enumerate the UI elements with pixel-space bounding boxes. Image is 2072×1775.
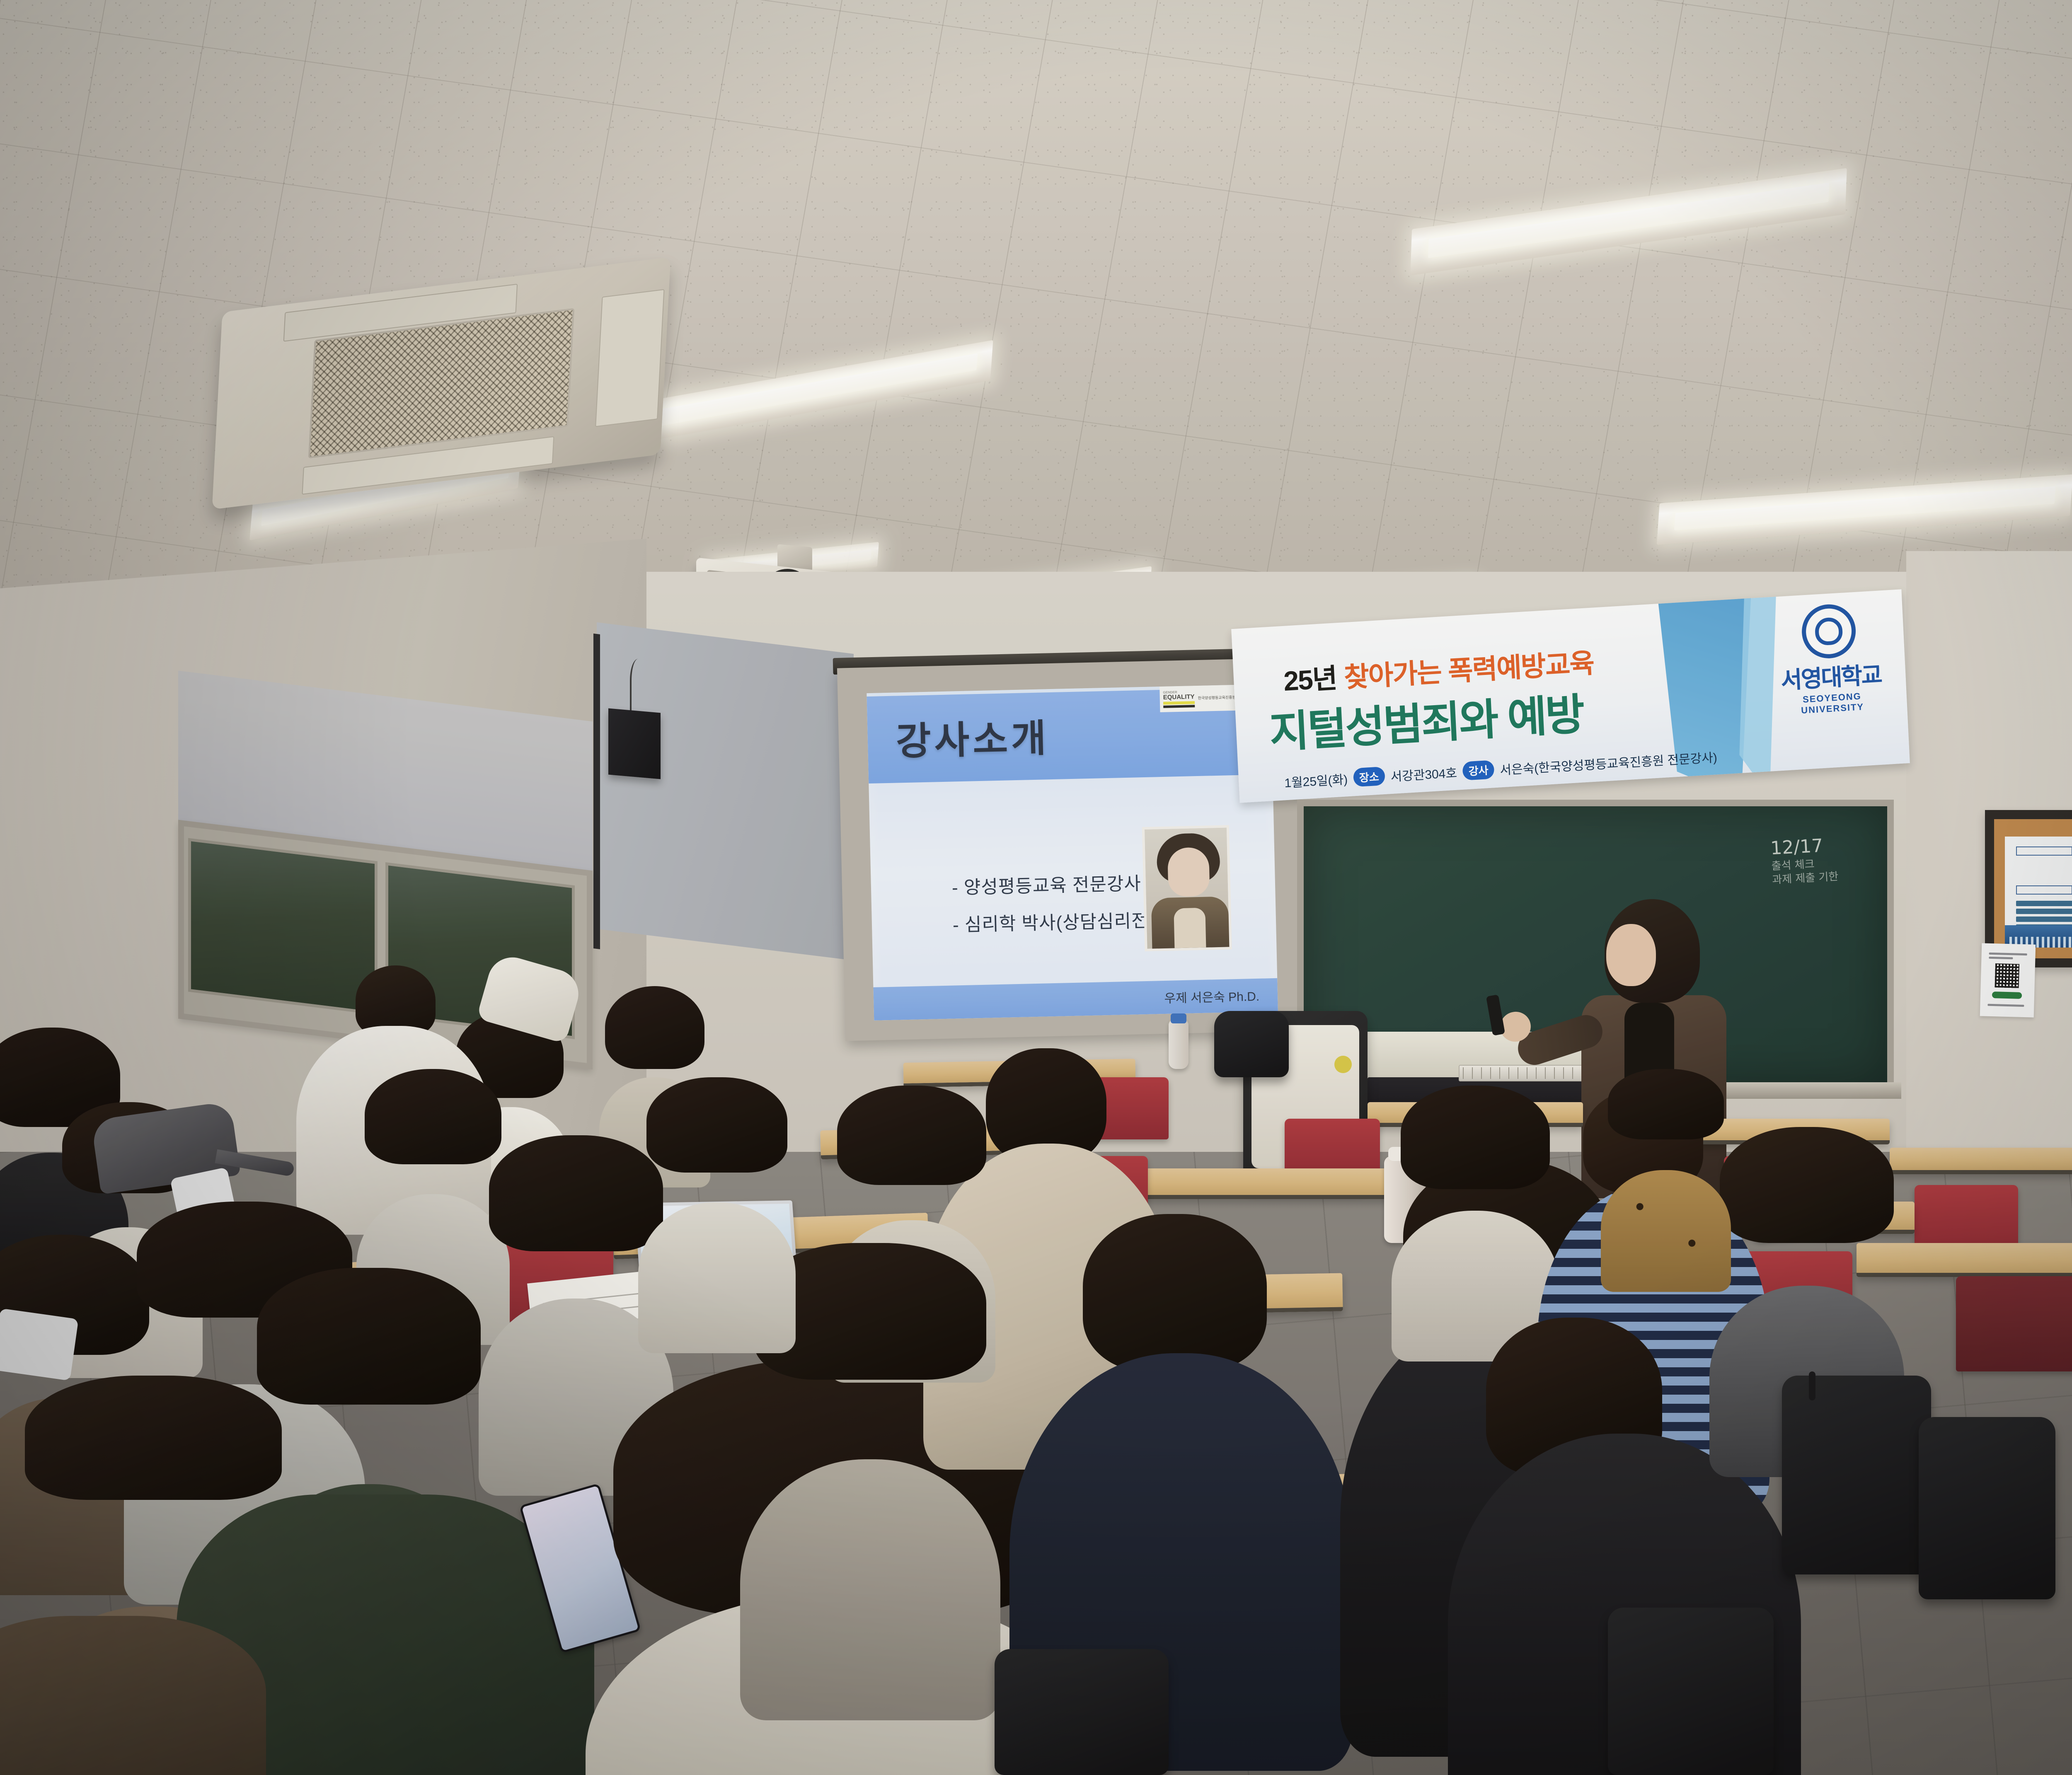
portrait-shirt xyxy=(1174,908,1206,948)
student-foreground-bottom-left xyxy=(0,1616,249,1775)
slide-body: - 양성평등교육 전문강사 - 심리학 박사(상담심리전공) xyxy=(869,779,1278,991)
instructor-face xyxy=(1606,924,1656,986)
student-hair xyxy=(365,1069,501,1164)
qr-code-poster xyxy=(1980,943,2036,1017)
poster-row-1 xyxy=(2016,901,2072,906)
qr-poster-footer xyxy=(1987,1004,2024,1007)
logo-equality-text: EQUALITY xyxy=(1163,693,1195,701)
logo-yellow-bar xyxy=(1163,701,1195,705)
student-leopard-pattern xyxy=(1608,1069,1724,1243)
bulletin-poster-left xyxy=(2005,837,2072,948)
ac-vane-right xyxy=(595,289,665,427)
student-torso xyxy=(740,1459,1000,1720)
poster-title-box xyxy=(2016,846,2072,856)
banner-place-pill: 장소 xyxy=(1353,767,1385,787)
poster-subtitle-box xyxy=(2016,885,2072,895)
speaker-cable xyxy=(630,659,651,713)
university-logo: 서영대학교 SEOYEONG UNIVERSITY xyxy=(1765,601,1895,718)
backpack-strap xyxy=(1809,1371,1815,1400)
student-hair xyxy=(1720,1127,1894,1243)
student-hair xyxy=(837,1086,986,1185)
student-arm-sleeve xyxy=(476,951,584,1044)
poster-row-2 xyxy=(2016,909,2072,914)
student-center-left-1 xyxy=(365,1069,501,1284)
chalkboard-date: 12/17 xyxy=(1770,834,1837,860)
logo-text-block: GENDER EQUALITY xyxy=(1163,690,1195,708)
slide-title: 강사소개 xyxy=(895,707,1050,766)
seal-inner-mark xyxy=(1815,617,1843,646)
qr-poster-heading xyxy=(1989,953,2027,955)
slide-footer-credit: 우제 서은숙 Ph.D. xyxy=(1164,986,1260,1006)
student-raised-arm xyxy=(439,953,588,1077)
chalkboard-writing: 12/17 출석 체크 과제 제출 기한 xyxy=(1770,834,1839,887)
slide-bullet-list: - 양성평등교육 전문강사 - 심리학 박사(상담심리전공) xyxy=(951,865,1173,944)
water-bottle-far[interactable] xyxy=(1169,1019,1188,1069)
student-patterned-top xyxy=(1601,1170,1731,1292)
backpack-floor-2 xyxy=(1919,1417,2055,1599)
wall-speaker xyxy=(608,708,661,779)
logo-dark-bar xyxy=(1163,705,1195,708)
chalkboard-note-2: 과제 제출 기한 xyxy=(1772,870,1839,887)
student-right-mid-2 xyxy=(1720,1127,1894,1400)
desk-far-4 xyxy=(1890,1148,2072,1174)
portrait-face xyxy=(1167,847,1210,897)
student-hair xyxy=(605,986,704,1069)
banner-date: 1월25일(화) xyxy=(1284,769,1348,791)
face-mask-2 xyxy=(0,1308,79,1381)
backpack-floor-1 xyxy=(1782,1376,1931,1574)
student-hair xyxy=(646,1077,787,1173)
banner-speaker-pill: 강사 xyxy=(1462,760,1495,780)
instructor-portrait-photo xyxy=(1142,825,1232,951)
student-hair xyxy=(1608,1069,1724,1139)
banner-place-value: 서강관304호 xyxy=(1390,762,1457,784)
backpack-floor-4 xyxy=(1608,1608,1774,1775)
qr-action-button[interactable] xyxy=(1992,991,2022,999)
university-seal-icon xyxy=(1801,603,1857,660)
student-hair xyxy=(356,965,436,1036)
backpack-floor-5 xyxy=(995,1649,1169,1775)
slide-bullet-1: - 양성평등교육 전문강사 xyxy=(951,865,1172,907)
purifier-badge-icon xyxy=(1334,1056,1352,1073)
student-hair xyxy=(257,1268,481,1405)
slide-bullet-2: - 심리학 박사(상담심리전공) xyxy=(952,902,1173,944)
qr-poster-heading-2 xyxy=(1989,957,2013,960)
backpack-far xyxy=(1214,1011,1289,1077)
student-center-row-1 xyxy=(646,1077,787,1293)
classroom-photo: GENDER EQUALITY 한국양성평등교육진흥원 강사소개 - 양성평등교… xyxy=(0,0,2072,1775)
partition-edge xyxy=(593,634,600,949)
logo-korean-name: 한국양성평등교육진흥원 xyxy=(1198,695,1236,701)
student-hair-bun xyxy=(1083,1214,1267,1371)
poster-row-3 xyxy=(2016,917,2072,922)
student-hair xyxy=(1401,1086,1550,1189)
student-torso xyxy=(638,1202,796,1353)
banner-year: 25년 xyxy=(1283,663,1338,696)
student-right-mid-1 xyxy=(1401,1086,1550,1301)
student-navy-hoodie xyxy=(1028,1214,1334,1678)
student-torso xyxy=(0,1616,266,1775)
bottle-cap xyxy=(1171,1013,1186,1023)
qr-code-icon xyxy=(1995,963,2019,988)
student-hair xyxy=(489,1135,663,1251)
chair-front-4[interactable] xyxy=(1956,1276,2072,1371)
presentation-slide: GENDER EQUALITY 한국양성평등교육진흥원 강사소개 - 양성평등교… xyxy=(867,684,1278,1021)
